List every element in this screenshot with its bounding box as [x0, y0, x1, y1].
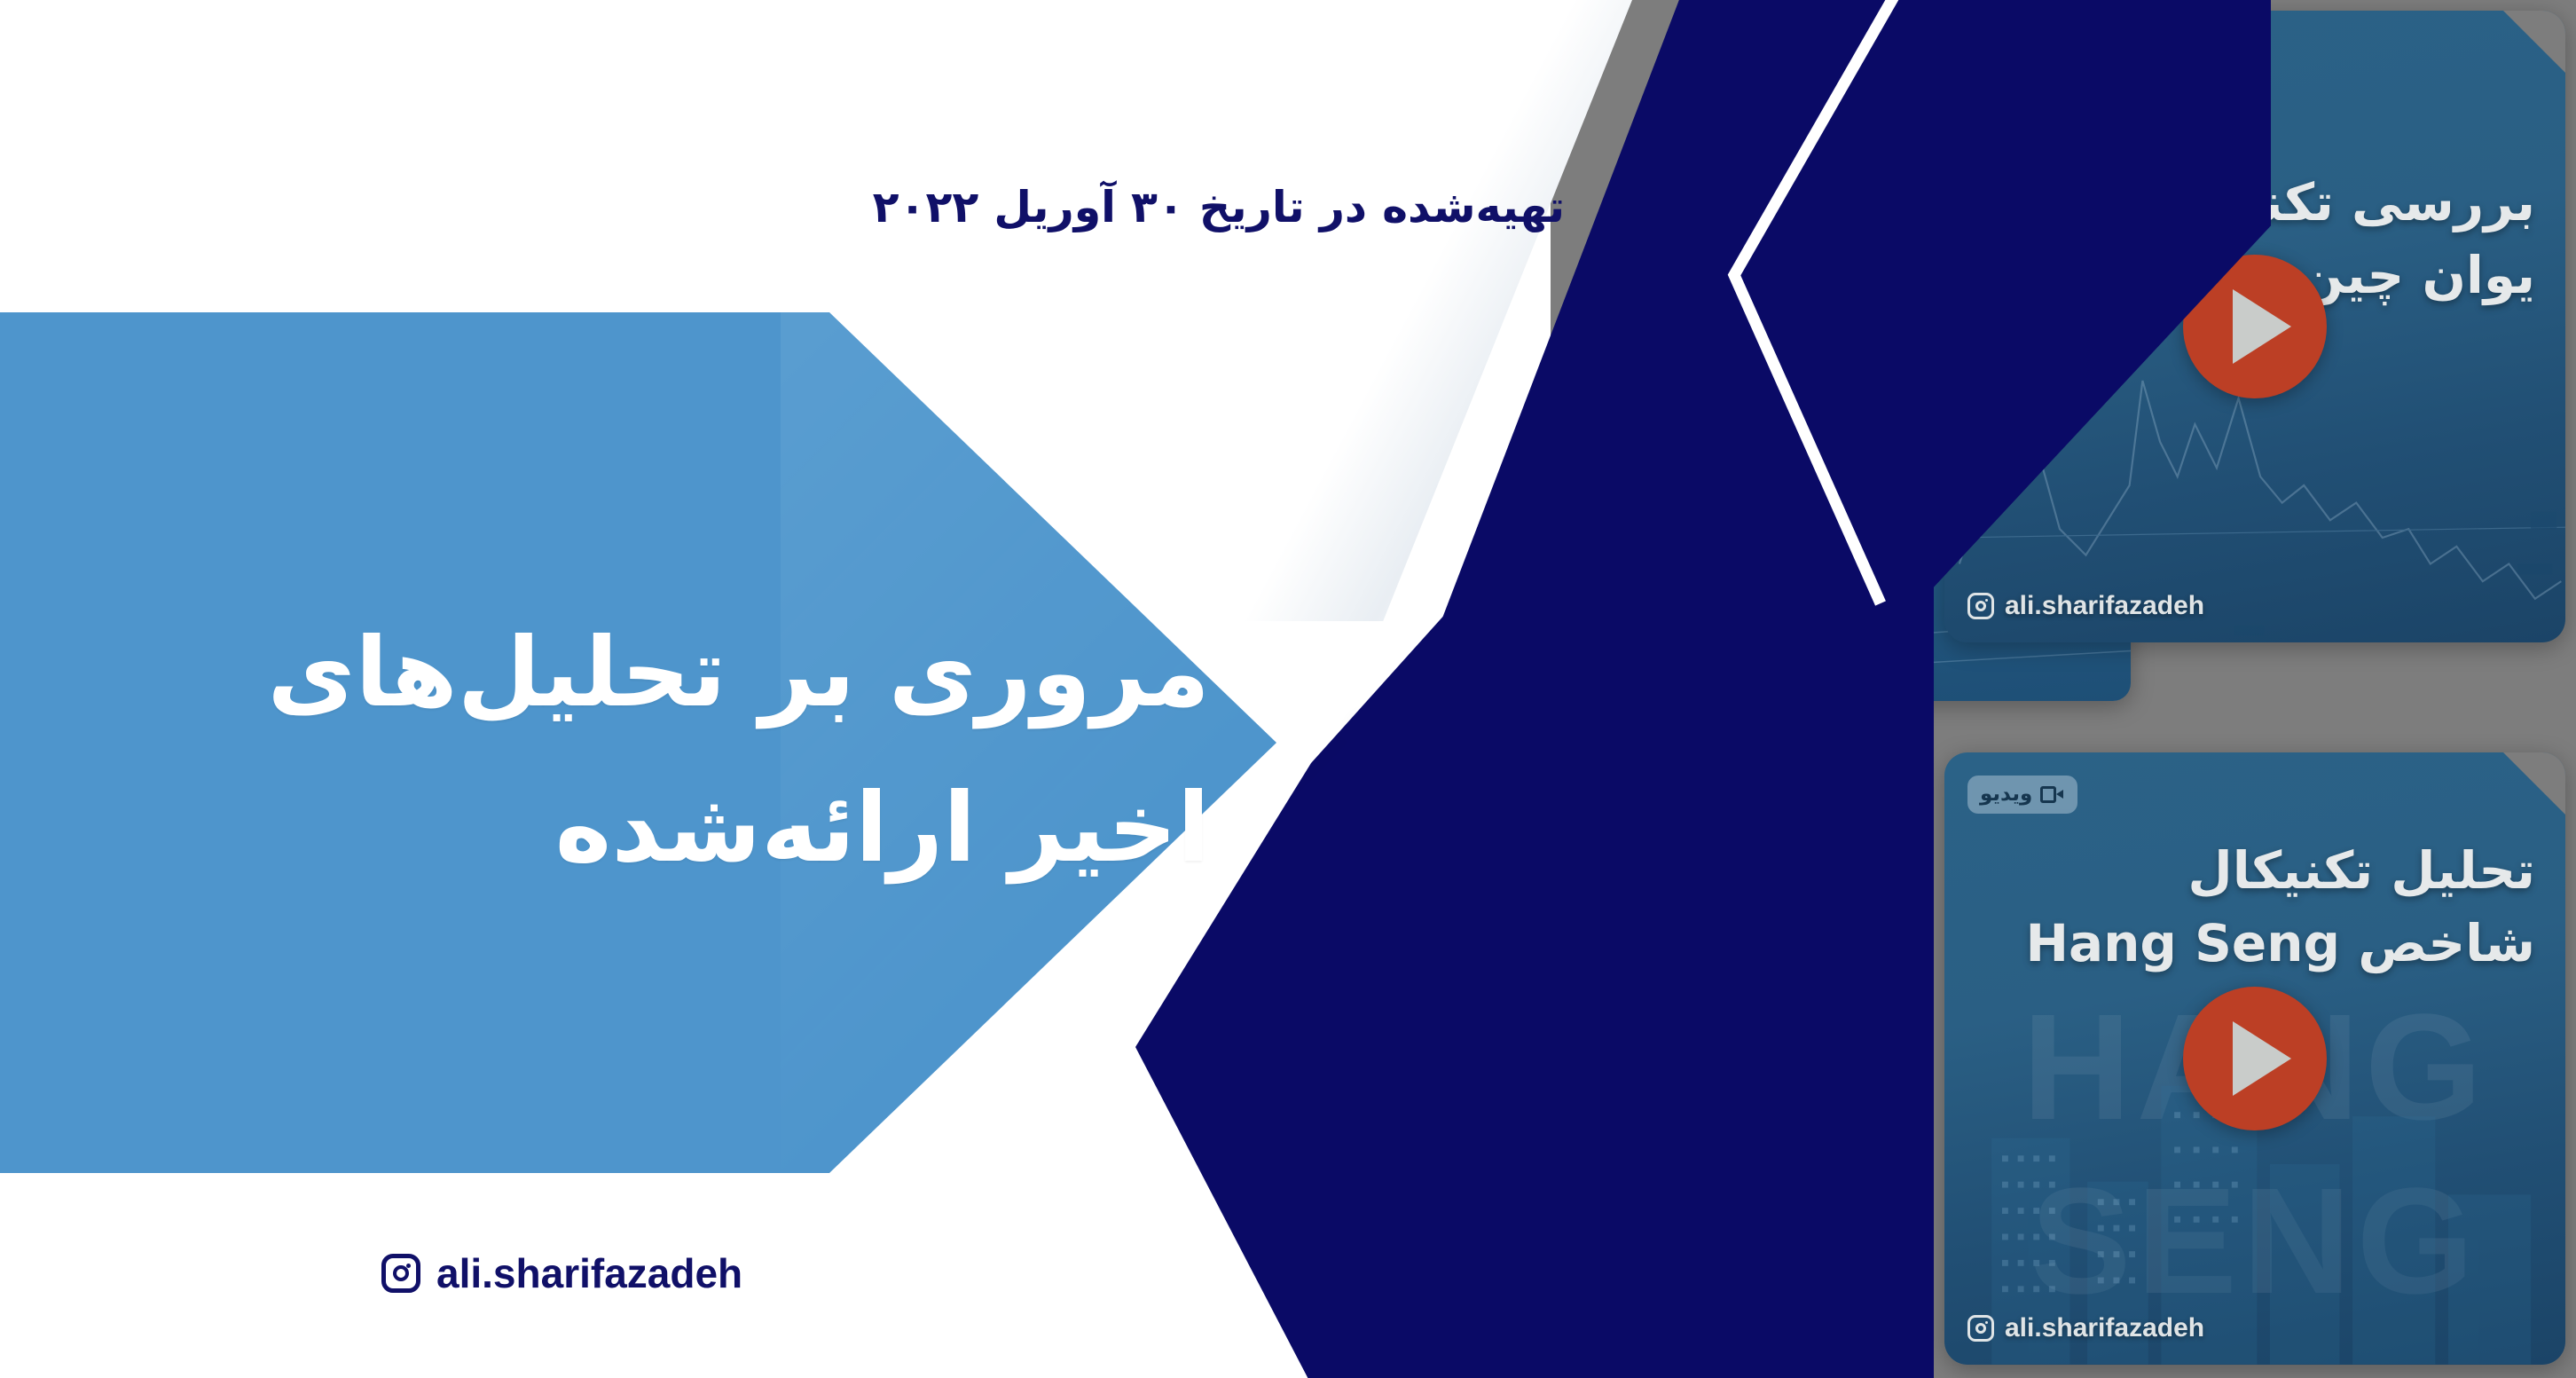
play-button-icon[interactable] [2183, 987, 2327, 1130]
instagram-handle[interactable]: ali.sharifazadeh [381, 1249, 742, 1297]
video-card-bottom-title: تحلیل تکنیکال شاخص Hang Seng [1969, 834, 2535, 980]
video-badge: ویدیو [1967, 776, 2077, 814]
play-triangle [2233, 1021, 2291, 1096]
headline-line-2: اخیر ارائه‌شده [57, 752, 1210, 907]
video-badge-label: ویدیو [1980, 783, 2032, 806]
page-title: مروری بر تحلیل‌های اخیر ارائه‌شده [57, 596, 1210, 907]
handle-text: ali.sharifazadeh [2005, 1313, 2204, 1343]
date-line: تهیه‌شده در تاریخ ۳۰ آوریل ۲۰۲۲ [873, 182, 1565, 232]
instagram-handle-text: ali.sharifazadeh [436, 1249, 742, 1297]
video-card-bottom-handle: ali.sharifazadeh [1967, 1313, 2204, 1343]
card-corner-notch [2503, 752, 2565, 815]
navy-shape-bottom [1135, 497, 1934, 1378]
instagram-icon [381, 1254, 420, 1293]
video-card-top-handle: ali.sharifazadeh [1967, 591, 2204, 621]
play-triangle [2233, 289, 2291, 364]
instagram-icon [1967, 1315, 1994, 1342]
handle-text: ali.sharifazadeh [2005, 591, 2204, 621]
video-card-bottom[interactable]: HANG SENG [1944, 752, 2565, 1365]
video-camera-icon [2040, 786, 2063, 803]
headline-line-1: مروری بر تحلیل‌های [57, 596, 1210, 752]
card-corner-notch [2503, 11, 2565, 73]
instagram-icon [1967, 593, 1994, 619]
slide-canvas: شا ویدیو بررسی تکنیکالی یوان چین و دلار … [0, 0, 2576, 1378]
